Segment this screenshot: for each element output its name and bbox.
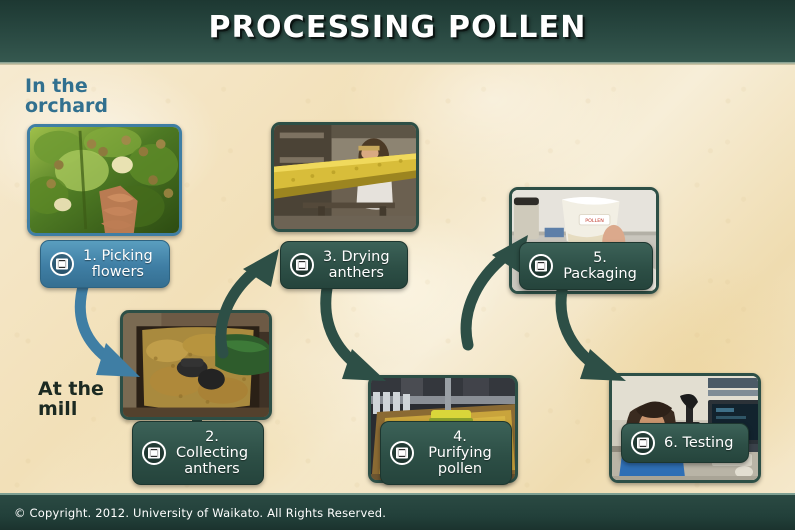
media-thumbnail-icon [50,252,74,276]
diagram-canvas: In the orchard At the mill [0,65,795,493]
media-thumbnail-icon [390,441,414,465]
step-label: 6. Testing [664,435,733,451]
step-label: 2. Collecting anthers [175,429,249,477]
step-label: 4. Purifying pollen [423,429,497,477]
photo-drying-anthers[interactable] [271,122,419,232]
step-button-6-testing[interactable]: 6. Testing [621,423,749,463]
step-label: 5. Packaging [562,250,638,282]
media-thumbnail-icon [631,431,655,455]
step-label: 3. Drying anthers [323,249,390,281]
step-label: 1. Picking flowers [83,248,153,280]
media-thumbnail-icon [290,253,314,277]
arrow-step3-to-step4 [312,277,412,397]
step-button-5-packaging[interactable]: 5. Packaging [519,242,653,290]
media-thumbnail-icon [142,441,166,465]
arrow-step5-to-step6 [548,275,653,395]
step-button-3-drying-anthers[interactable]: 3. Drying anthers [280,241,408,289]
infographic-page: PROCESSING POLLEN In the orchard At the … [0,0,795,530]
zone-label-orchard: In the orchard [25,76,108,116]
page-footer: © Copyright. 2012. University of Waikato… [0,493,795,530]
step-button-2-collecting-anthers[interactable]: 2. Collecting anthers [132,421,264,485]
copyright-text: © Copyright. 2012. University of Waikato… [14,506,386,520]
photo-picking-flowers[interactable] [27,124,182,236]
zone-label-mill: At the mill [38,379,104,419]
step-button-4-purifying-pollen[interactable]: 4. Purifying pollen [380,421,512,485]
step-button-1-picking-flowers[interactable]: 1. Picking flowers [40,240,170,288]
page-title: PROCESSING POLLEN [0,10,795,45]
media-thumbnail-icon [529,254,553,278]
svg-text:POLLEN: POLLEN [585,218,604,224]
page-header: PROCESSING POLLEN [0,0,795,62]
